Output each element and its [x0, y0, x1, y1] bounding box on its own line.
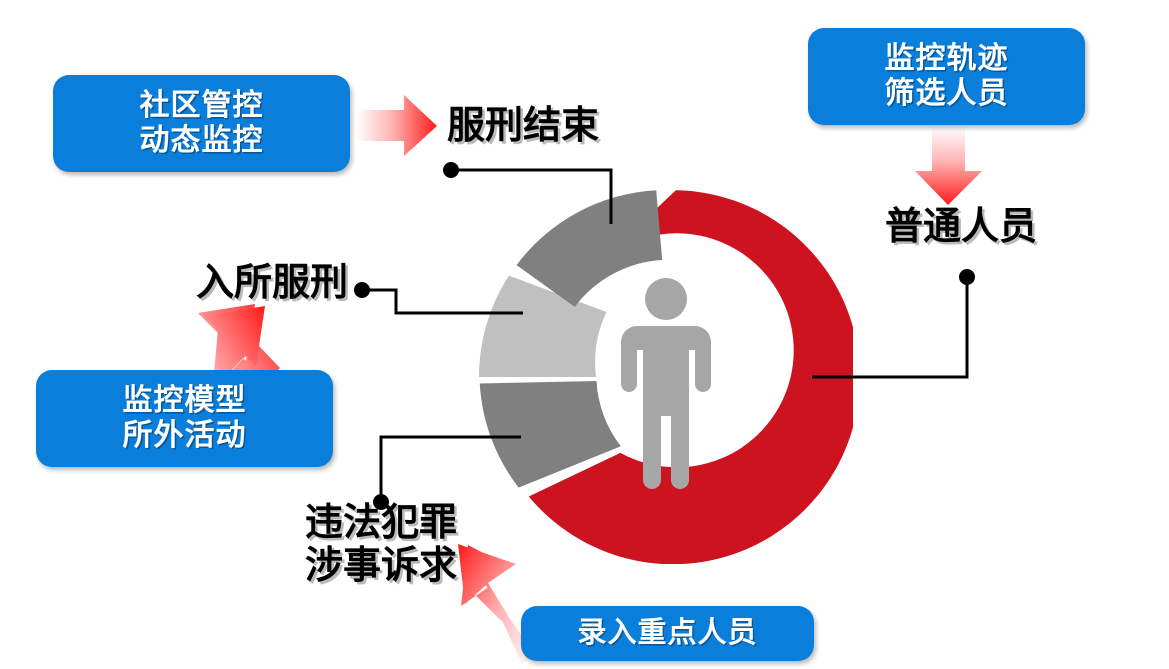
box-community-line1: 社区管控 — [140, 89, 264, 124]
label-normal-person: 普通人员 — [885, 206, 1037, 249]
box-monitor-line1: 监控模型 — [123, 384, 247, 419]
label-imprisonment: 入所服刑 — [196, 262, 348, 305]
connector-serve-dot — [354, 282, 370, 298]
box-monitor-line2: 所外活动 — [123, 419, 247, 454]
diagram-canvas: 社区管控 动态监控 监控模型 所外活动 监控轨迹 筛选人员 录入重点人员 服刑结… — [0, 0, 1169, 669]
box-community-line2: 动态监控 — [140, 124, 264, 159]
box-track-screening[interactable]: 监控轨迹 筛选人员 — [808, 28, 1085, 125]
connector-normal-dot — [959, 269, 975, 285]
box-key-personnel-entry[interactable]: 录入重点人员 — [521, 606, 814, 661]
box-community-control[interactable]: 社区管控 动态监控 — [53, 75, 350, 172]
box-track-line1: 监控轨迹 — [885, 42, 1009, 77]
label-crime: 违法犯罪 涉事诉求 — [305, 502, 457, 587]
label-normal-line1: 普通人员 — [885, 206, 1037, 249]
donut-chart — [479, 190, 853, 564]
person-icon — [621, 278, 711, 489]
box-monitoring-model[interactable]: 监控模型 所外活动 — [36, 370, 333, 467]
label-serve-line1: 入所服刑 — [196, 262, 348, 305]
connector-end-dot — [443, 162, 459, 178]
box-track-line2: 筛选人员 — [885, 77, 1009, 112]
label-end-of-sentence: 服刑结束 — [447, 105, 599, 148]
arrow-community-to-end-icon — [356, 95, 437, 156]
label-crime-line1: 违法犯罪 — [305, 502, 457, 545]
box-entry-line1: 录入重点人员 — [577, 617, 757, 651]
arrow-track-to-normal-icon — [915, 126, 982, 205]
label-crime-line2: 涉事诉求 — [305, 545, 457, 588]
label-end-line1: 服刑结束 — [447, 105, 599, 148]
